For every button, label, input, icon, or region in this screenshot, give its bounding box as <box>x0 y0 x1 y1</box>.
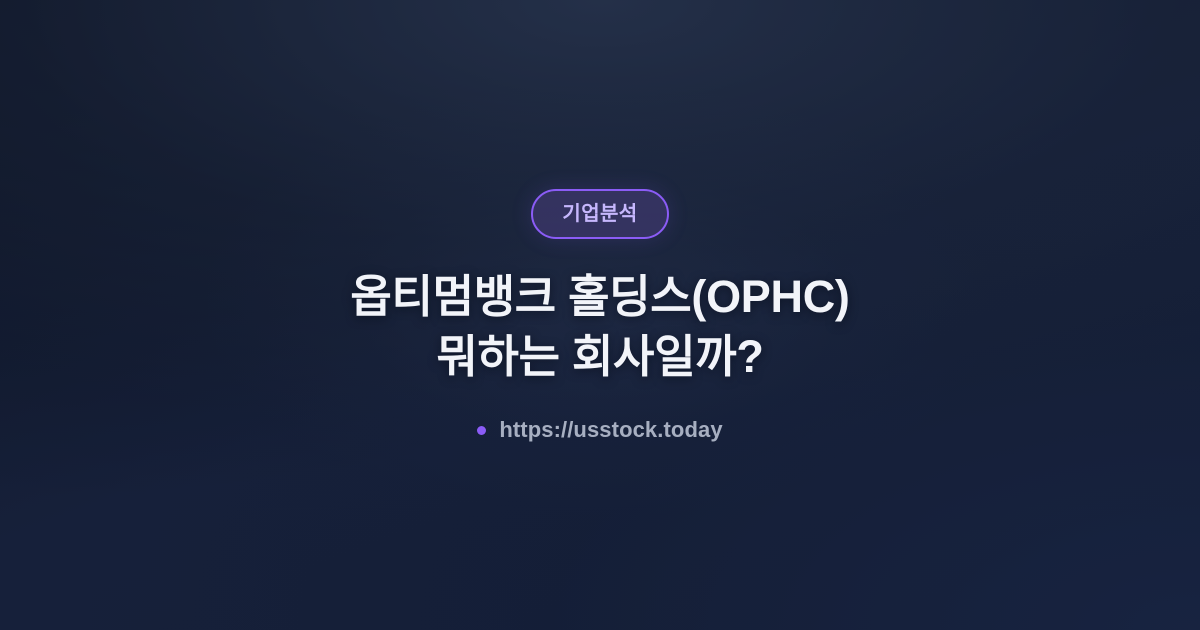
site-url-text: https://usstock.today <box>499 419 722 441</box>
page-title: 옵티멈뱅크 홀딩스(OPHC) 뭐하는 회사일까? <box>350 267 849 387</box>
category-badge-label: 기업분석 <box>562 204 637 224</box>
site-url: https://usstock.today <box>477 419 722 441</box>
page-title-line-2: 뭐하는 회사일까? <box>350 327 849 387</box>
bullet-dot-icon <box>477 426 486 435</box>
page-title-line-1: 옵티멈뱅크 홀딩스(OPHC) <box>350 267 849 327</box>
card-content: 기업분석 옵티멈뱅크 홀딩스(OPHC) 뭐하는 회사일까? https://u… <box>0 0 1200 630</box>
category-badge: 기업분석 <box>531 189 668 239</box>
og-card: 기업분석 옵티멈뱅크 홀딩스(OPHC) 뭐하는 회사일까? https://u… <box>0 0 1200 630</box>
